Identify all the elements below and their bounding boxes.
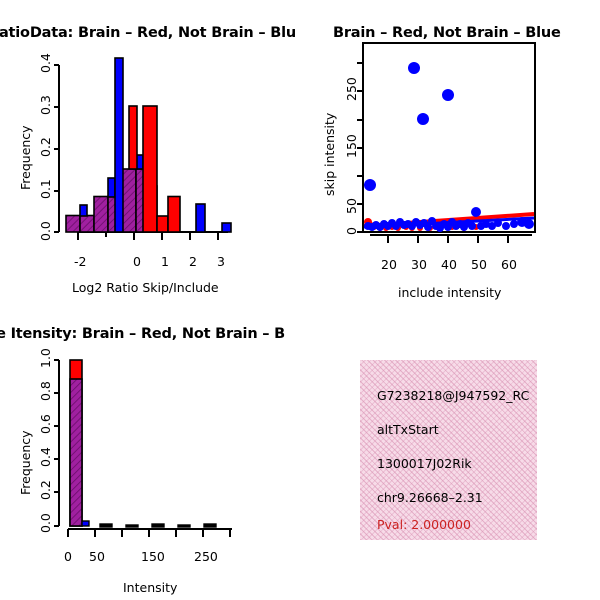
annotation-line-probe: G7238218@J947592_RC	[377, 388, 529, 403]
annotation-line-locus: chr9.26668–2.31	[377, 490, 483, 505]
annotation-line-pval: Pval: 2.000000	[377, 517, 471, 532]
panel2-plot	[300, 0, 600, 300]
annotation-line-event: altTxStart	[377, 422, 439, 437]
panel-annotation: G7238218@J947592_RC altTxStart 1300017J0…	[300, 300, 600, 600]
panel1-plot	[0, 0, 300, 300]
annotation-box: G7238218@J947592_RC altTxStart 1300017J0…	[360, 360, 537, 540]
panel-intensity-scatter: Brain – Red, Not Brain – Blue skip inten…	[300, 0, 600, 300]
annotation-line-gene: 1300017J02Rik	[377, 456, 472, 471]
panel-gene-intensity-histogram: ne Itensity: Brain – Red, Not Brain – B …	[0, 300, 300, 600]
panel3-plot	[0, 300, 300, 600]
panel-ratio-histogram: RatioData: Brain – Red, Not Brain – Blu …	[0, 0, 300, 300]
